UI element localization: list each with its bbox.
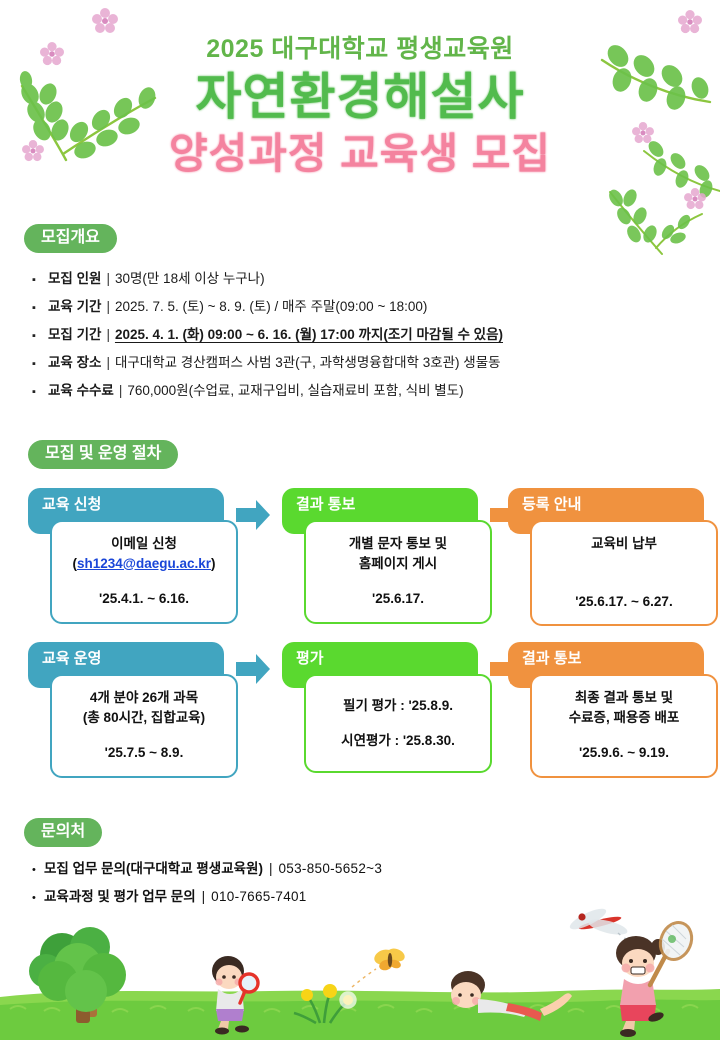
overview-item-separator: |	[114, 384, 128, 398]
section-badge-process: 모집 및 운영 절차	[28, 440, 178, 469]
overview-item-label: 교육 수수료	[48, 384, 114, 398]
overview-item: ▪ 교육 장소 | 대구대학교 경산캠퍼스 사범 3관(구, 과학생명융합대학 …	[24, 356, 700, 370]
title-line-secondary: 양성과정 교육생 모집	[0, 129, 720, 179]
flow-step-main-text-2: 수료증, 패용증 배포	[538, 708, 710, 728]
flow-step-date: '25.6.17. ~ 6.27.	[538, 592, 710, 612]
process-flow-row-2: 교육 운영 4개 분야 26개 과목 (총 80시간, 집합교육) '25.7.…	[0, 642, 720, 792]
overview-item-label: 교육 기간	[48, 300, 101, 314]
flow-step-evaluation: 평가 필기 평가 : '25.8.9. 시연평가 : '25.8.30.	[282, 642, 492, 792]
flow-step-main-text: 개별 문자 통보 및	[312, 534, 484, 554]
overview-item-value: 2025. 7. 5. (토) ~ 8. 9. (토) / 매주 주말(09:0…	[115, 300, 427, 314]
flow-arrow-icon	[236, 654, 270, 684]
overview-item-label: 모집 인원	[48, 272, 101, 286]
overview-item-value: 2025. 4. 1. (화) 09:00 ~ 6. 16. (월) 17:00…	[115, 328, 503, 342]
flow-arrow-icon	[236, 500, 270, 530]
flow-step-main-text: 필기 평가 : '25.8.9.	[312, 696, 484, 716]
flow-step-main-text-2: 시연평가 : '25.8.30.	[312, 731, 484, 751]
contact-badge-label: 문의처	[24, 818, 102, 847]
overview-item: ▪ 모집 인원 | 30명(만 18세 이상 누구나)	[24, 272, 700, 286]
bullet-icon: •	[28, 865, 44, 876]
blossom-icon	[92, 8, 118, 34]
flow-step-main-text-2: 홈페이지 게시	[312, 554, 484, 574]
flow-step-main-text: 교육비 납부	[538, 534, 710, 554]
contact-item-value: 053-850-5652~3	[278, 862, 382, 876]
bullet-icon: ▪	[24, 387, 48, 398]
butterfly-icon	[352, 946, 407, 987]
overview-item-label: 교육 장소	[48, 356, 101, 370]
flow-step-application: 교육 신청 이메일 신청 (sh1234@daegu.ac.kr) '25.4.…	[28, 488, 238, 638]
overview-list: ▪ 모집 인원 | 30명(만 18세 이상 누구나) ▪ 교육 기간 | 20…	[24, 272, 700, 412]
overview-item: ▪ 교육 기간 | 2025. 7. 5. (토) ~ 8. 9. (토) / …	[24, 300, 700, 314]
section-badge-overview: 모집개요	[24, 224, 117, 253]
bottom-illustration	[0, 905, 720, 1040]
contact-item-value: 010-7665-7401	[211, 890, 306, 904]
title-line-main: 자연환경해설사	[0, 68, 720, 127]
flow-step-email-line: (sh1234@daegu.ac.kr)	[58, 554, 230, 574]
title-line-subtitle: 2025 대구대학교 평생교육원	[0, 36, 720, 64]
flow-step-date: '25.6.17.	[312, 589, 484, 609]
contact-item-separator: |	[263, 862, 279, 876]
leaf-sprig-top-right-c	[600, 178, 680, 258]
flow-step-card: 최종 결과 통보 및 수료증, 패용증 배포 '25.9.6. ~ 9.19.	[530, 674, 718, 778]
process-flow-row-1: 교육 신청 이메일 신청 (sh1234@daegu.ac.kr) '25.4.…	[0, 488, 720, 638]
overview-item: ▪ 교육 수수료 | 760,000원(수업료, 교재구입비, 실습재료비 포함…	[24, 384, 700, 398]
paren-close: )	[211, 556, 216, 571]
blossom-icon	[684, 188, 706, 210]
overview-item-separator: |	[101, 300, 115, 314]
overview-badge-label: 모집개요	[24, 224, 117, 253]
flow-step-card: 이메일 신청 (sh1234@daegu.ac.kr) '25.4.1. ~ 6…	[50, 520, 238, 624]
overview-item-value: 760,000원(수업료, 교재구입비, 실습재료비 포함, 식비 별도)	[127, 384, 463, 398]
overview-item-value: 30명(만 18세 이상 누구나)	[115, 272, 265, 286]
overview-item-separator: |	[101, 272, 115, 286]
overview-item-highlighted: ▪ 모집 기간 | 2025. 4. 1. (화) 09:00 ~ 6. 16.…	[24, 328, 700, 342]
bullet-icon: •	[28, 893, 44, 904]
flow-step-main-text-2: (총 80시간, 집합교육)	[58, 708, 230, 728]
overview-item-value: 대구대학교 경산캠퍼스 사범 3관(구, 과학생명융합대학 3호관) 생물동	[115, 356, 501, 370]
flow-step-main-text: 4개 분야 26개 과목	[58, 688, 230, 708]
leaf-sprig-mid-right	[650, 208, 710, 253]
contact-item: • 교육과정 및 평가 업무 문의 | 010-7665-7401	[28, 890, 628, 904]
contact-item-separator: |	[196, 890, 212, 904]
process-badge-label: 모집 및 운영 절차	[28, 440, 178, 469]
flow-step-final-notice: 결과 통보 최종 결과 통보 및 수료증, 패용증 배포 '25.9.6. ~ …	[508, 642, 718, 792]
flow-step-card: 필기 평가 : '25.8.9. 시연평가 : '25.8.30.	[304, 674, 492, 773]
contact-item-label: 교육과정 및 평가 업무 문의	[44, 890, 196, 904]
flow-step-card: 교육비 납부 '25.6.17. ~ 6.27.	[530, 520, 718, 626]
blossom-icon	[678, 10, 702, 34]
flow-step-date: '25.9.6. ~ 9.19.	[538, 743, 710, 763]
bullet-icon: ▪	[24, 359, 48, 370]
bullet-icon: ▪	[24, 331, 48, 342]
flow-step-training: 교육 운영 4개 분야 26개 과목 (총 80시간, 집합교육) '25.7.…	[28, 642, 238, 792]
contact-item-label: 모집 업무 문의(대구대학교 평생교육원)	[44, 862, 263, 876]
email-link[interactable]: sh1234@daegu.ac.kr	[77, 556, 211, 571]
bullet-icon: ▪	[24, 275, 48, 286]
flow-step-date: '25.4.1. ~ 6.16.	[58, 589, 230, 609]
flow-step-main-text: 최종 결과 통보 및	[538, 688, 710, 708]
poster-title-block: 2025 대구대학교 평생교육원 자연환경해설사 양성과정 교육생 모집	[0, 36, 720, 179]
poster-canvas: 2025 대구대학교 평생교육원 자연환경해설사 양성과정 교육생 모집 모집개…	[0, 0, 720, 1040]
overview-item-separator: |	[101, 356, 115, 370]
contact-item: • 모집 업무 문의(대구대학교 평생교육원) | 053-850-5652~3	[28, 862, 628, 876]
flow-step-card: 개별 문자 통보 및 홈페이지 게시 '25.6.17.	[304, 520, 492, 624]
flow-step-result-notice: 결과 통보 개별 문자 통보 및 홈페이지 게시 '25.6.17.	[282, 488, 492, 638]
flow-step-date: '25.7.5 ~ 8.9.	[58, 743, 230, 763]
flow-step-registration: 등록 안내 교육비 납부 '25.6.17. ~ 6.27.	[508, 488, 718, 638]
bullet-icon: ▪	[24, 303, 48, 314]
flow-step-main-text: 이메일 신청	[58, 534, 230, 554]
overview-item-label: 모집 기간	[48, 328, 101, 342]
scene-svg	[0, 905, 720, 1040]
overview-item-separator: |	[101, 328, 115, 342]
flow-step-card: 4개 분야 26개 과목 (총 80시간, 집합교육) '25.7.5 ~ 8.…	[50, 674, 238, 778]
section-badge-contact: 문의처	[24, 818, 102, 847]
